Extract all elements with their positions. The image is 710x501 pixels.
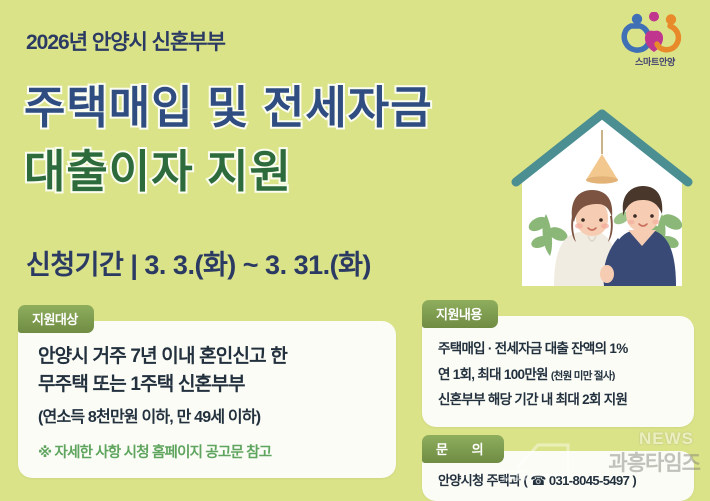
smart-anyang-logo-label: 스마트안양 [618, 55, 692, 68]
support-content-line-1: 주택매입 · 전세자금 대출 잔액의 1% [438, 336, 678, 362]
poster-title-line-2: 대출이자 지원 [24, 140, 544, 204]
poster-root: 스마트안양 2026년 안양시 신혼부부 주택매입 및 전세자금 대출이자 지원… [0, 0, 710, 501]
support-content-line-2-main: 연 1회, 최대 100만원 [438, 367, 548, 382]
smart-anyang-logo: 스마트안양 [618, 12, 692, 74]
support-content-badge: 지원내용 [422, 300, 498, 328]
poster-title: 주택매입 및 전세자금 대출이자 지원 [24, 76, 544, 204]
contact-badge: 문 의 [422, 435, 504, 463]
support-target-sub: (연소득 8천만원 이하, 만 49세 이하) [38, 406, 376, 430]
contact-section: 문 의 안양시청 주택과 ( ☎ 031-8045-5497 ) [422, 435, 694, 501]
support-target-panel: 지원대상 안양시 거주 7년 이내 혼인신고 한 무주택 또는 1주택 신혼부부… [18, 305, 396, 478]
contact-paren-close: ) [632, 473, 636, 488]
support-content-card: 주택매입 · 전세자금 대출 잔액의 1% 연 1회, 최대 100만원 (천원… [422, 316, 694, 427]
support-target-note: ※ 자세한 사항 시청 홈페이지 공고문 참고 [38, 441, 376, 462]
support-target-line-1: 안양시 거주 7년 이내 혼인신고 한 [38, 343, 376, 371]
phone-icon: ☎ [530, 473, 546, 488]
support-target-badge: 지원대상 [18, 305, 94, 333]
contact-phone: 031-8045-5497 [549, 473, 629, 488]
poster-kicker: 2026년 안양시 신혼부부 [26, 26, 225, 56]
support-content-line-3: 신혼부부 해당 기간 내 최대 2회 지원 [438, 387, 678, 413]
application-period: 신청기간 | 3. 3.(화) ~ 3. 31.(화) [26, 243, 371, 282]
support-content-line-2: 연 1회, 최대 100만원 (천원 미만 절사) [438, 362, 678, 388]
support-target-line-2: 무주택 또는 1주택 신혼부부 [38, 371, 376, 399]
smart-anyang-logo-icon [618, 12, 692, 54]
support-target-card: 안양시 거주 7년 이내 혼인신고 한 무주택 또는 1주택 신혼부부 (연소득… [18, 321, 396, 478]
contact-line: 안양시청 주택과 ( ☎ 031-8045-5497 ) [438, 470, 678, 489]
support-content-panel: 지원내용 주택매입 · 전세자금 대출 잔액의 1% 연 1회, 최대 100만… [422, 300, 694, 501]
support-content-line-2-small: (천원 미만 절사) [551, 370, 615, 382]
couple-in-house-illustration [502, 106, 702, 296]
poster-title-line-1: 주택매입 및 전세자금 [24, 76, 544, 140]
contact-department: 안양시청 주택과 ( [438, 473, 527, 488]
